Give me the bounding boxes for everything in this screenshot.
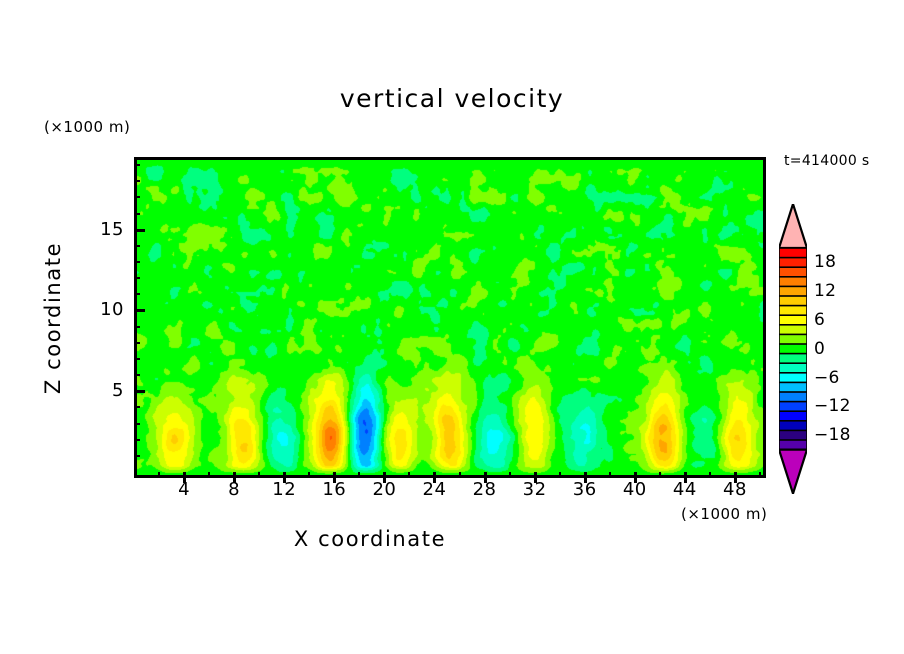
x-axis-minor-tick: [659, 472, 661, 478]
y-axis-minor-tick: [134, 293, 140, 295]
y-axis-minor-tick: [134, 406, 140, 408]
colorbar-tick-label: −6: [814, 368, 840, 388]
x-axis-minor-tick: [408, 472, 410, 478]
y-axis-tick: [134, 229, 145, 232]
y-axis-tick-label: 10: [84, 299, 124, 320]
x-axis-minor-tick: [509, 472, 511, 478]
z-axis-unit-label: (×1000 m): [44, 118, 130, 136]
colorbar-tick-label: 12: [814, 281, 836, 301]
y-axis-minor-tick: [134, 358, 140, 360]
x-axis-minor-tick: [358, 472, 360, 478]
colorbar-tick-label: −12: [814, 396, 851, 416]
colorbar-tick-label: −18: [814, 425, 851, 445]
x-axis-title: X coordinate: [0, 527, 740, 551]
x-axis-minor-tick: [759, 472, 761, 478]
y-axis-title: Z coordinate: [41, 218, 65, 418]
y-axis-minor-tick: [134, 196, 140, 198]
x-axis-minor-tick: [459, 472, 461, 478]
colorbar-tick-label: 0: [814, 339, 825, 359]
x-axis-minor-tick: [709, 472, 711, 478]
x-axis-tick-label: 48: [705, 479, 765, 500]
vertical-velocity-field: [137, 160, 763, 475]
y-axis-minor-tick: [134, 213, 140, 215]
y-axis-tick: [134, 390, 145, 393]
y-axis-minor-tick: [134, 342, 140, 344]
contour-plot-area: [134, 157, 766, 478]
x-axis-unit-label: (×1000 m): [681, 505, 767, 523]
y-axis-minor-tick: [134, 423, 140, 425]
colorbar-swatches: [779, 204, 807, 494]
x-axis-minor-tick: [158, 472, 160, 478]
colorbar-tick-label: 18: [814, 252, 836, 272]
timestamp-annotation: t=414000 s: [784, 153, 869, 169]
y-axis-minor-tick: [134, 439, 140, 441]
y-axis-tick: [134, 309, 145, 312]
colorbar: [779, 204, 807, 494]
y-axis-minor-tick: [134, 180, 140, 182]
y-axis-minor-tick: [134, 245, 140, 247]
x-axis-minor-tick: [258, 472, 260, 478]
y-axis-minor-tick: [134, 455, 140, 457]
y-axis-minor-tick: [134, 277, 140, 279]
y-axis-minor-tick: [134, 261, 140, 263]
y-axis-minor-tick: [134, 326, 140, 328]
x-axis-minor-tick: [208, 472, 210, 478]
page-title: vertical velocity: [0, 84, 904, 113]
y-axis-tick-label: 5: [84, 380, 124, 401]
x-axis-minor-tick: [609, 472, 611, 478]
y-axis-tick-label: 15: [84, 219, 124, 240]
y-axis-minor-tick: [134, 374, 140, 376]
x-axis-minor-tick: [559, 472, 561, 478]
vertical-velocity-figure: vertical velocity (×1000 m) (×1000 m) t=…: [0, 0, 904, 654]
x-axis-minor-tick: [308, 472, 310, 478]
y-axis-minor-tick: [134, 164, 140, 166]
colorbar-tick-label: 6: [814, 310, 825, 330]
